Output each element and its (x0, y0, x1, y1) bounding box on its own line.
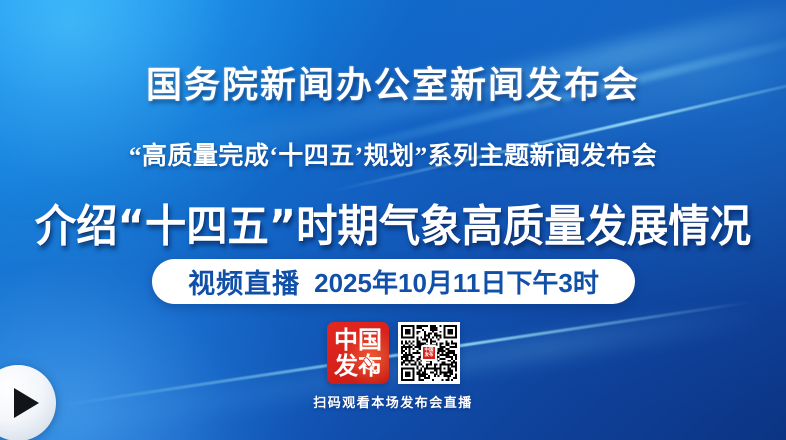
page-title: 国务院新闻办公室新闻发布会 (0, 56, 786, 108)
play-triangle-icon (14, 388, 39, 418)
broadcast-schedule-pill: 视频直播 2025年10月11日下午3时 (152, 259, 635, 304)
live-stream-poster: 国务院新闻办公室新闻发布会 “高质量完成‘十四五’规划”系列主题新闻发布会 介绍… (0, 0, 786, 440)
broadcast-type-label: 视频直播 (188, 262, 300, 301)
play-button[interactable] (0, 365, 56, 440)
qr-code[interactable]: 中国 发布 (398, 322, 460, 384)
qr-center-logo: 中国 发布 (421, 345, 437, 361)
broadcast-datetime: 2025年10月11日下午3时 (314, 263, 599, 300)
china-release-logo: 中国 发布 (327, 322, 389, 384)
brand-and-qr-row: 中国 发布 中国 发布 (327, 322, 460, 384)
event-headline: 介绍“十四五”时期气象高质量发展情况 (24, 190, 763, 254)
series-subtitle: “高质量完成‘十四五’规划”系列主题新闻发布会 (0, 136, 786, 172)
qr-caption: 扫码观看本场发布会直播 (0, 392, 786, 411)
logo-line-1: 中国 (334, 328, 382, 352)
logo-line-2: 发布 (334, 354, 382, 378)
qr-badge-line-2: 发布 (424, 353, 433, 358)
